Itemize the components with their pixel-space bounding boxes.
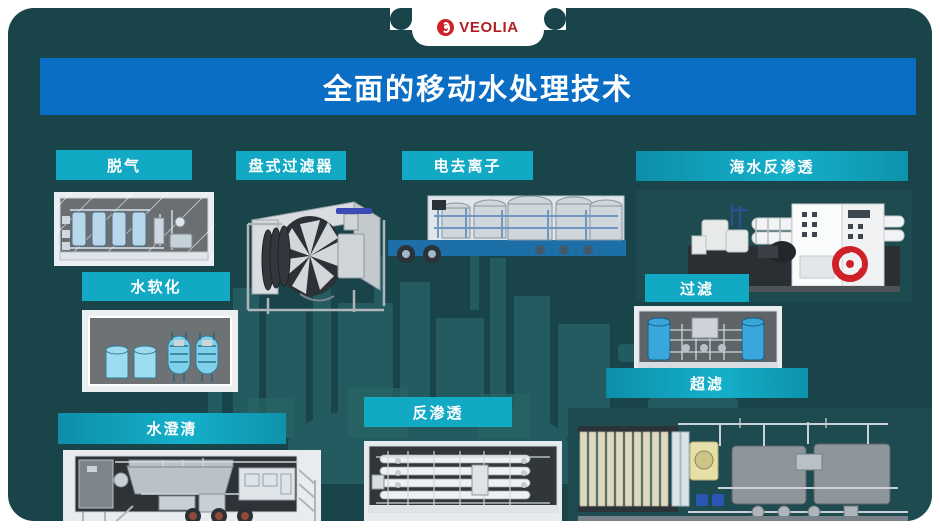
chip-label-edi: 电去离子 (433, 155, 501, 176)
chip-reverse-osmosis[interactable]: 反渗透 (364, 397, 512, 427)
edi-trailer-diagram (388, 194, 626, 266)
notch-curve-left (390, 8, 412, 30)
chip-softening[interactable]: 水软化 (82, 272, 230, 301)
chip-label-degassing: 脱气 (107, 155, 141, 176)
chip-filtration[interactable]: 过滤 (645, 274, 749, 302)
chip-label-ultrafiltration: 超滤 (690, 373, 724, 394)
reverse-osmosis-array-diagram (364, 441, 562, 521)
veolia-swirl-icon (437, 19, 454, 36)
chip-label-reverse-osmosis: 反渗透 (412, 402, 463, 423)
slide-panel: VEOLIA 全面的移动水处理技术 脱气 (8, 8, 932, 521)
chip-ultrafiltration[interactable]: 超滤 (606, 368, 808, 398)
chip-degassing[interactable]: 脱气 (56, 150, 192, 180)
page-title: 全面的移动水处理技术 (323, 66, 633, 108)
water-softening-diagram (82, 310, 238, 392)
chip-label-softening: 水软化 (130, 276, 181, 297)
slide-root: VEOLIA 全面的移动水处理技术 脱气 (0, 0, 940, 529)
brand-logo: VEOLIA (412, 8, 544, 46)
degassing-skid-diagram (54, 192, 214, 266)
veolia-wordmark: VEOLIA (459, 20, 518, 35)
notch-curve-right (544, 8, 566, 30)
chip-label-seawater-ro: 海水反渗透 (729, 156, 814, 177)
chip-label-disc-filter: 盘式过滤器 (248, 155, 333, 176)
chip-disc-filter[interactable]: 盘式过滤器 (236, 151, 346, 180)
ultrafiltration-skid-render (568, 408, 932, 521)
chip-label-filtration: 过滤 (680, 278, 714, 299)
chip-clarification[interactable]: 水澄清 (58, 413, 286, 444)
disc-filter-render (234, 194, 394, 322)
chip-edi[interactable]: 电去离子 (402, 151, 533, 180)
chip-label-clarification: 水澄清 (146, 418, 197, 439)
title-banner: 全面的移动水处理技术 (40, 58, 916, 115)
chip-seawater-ro[interactable]: 海水反渗透 (636, 151, 908, 181)
mobile-clarifier-diagram (63, 450, 321, 521)
